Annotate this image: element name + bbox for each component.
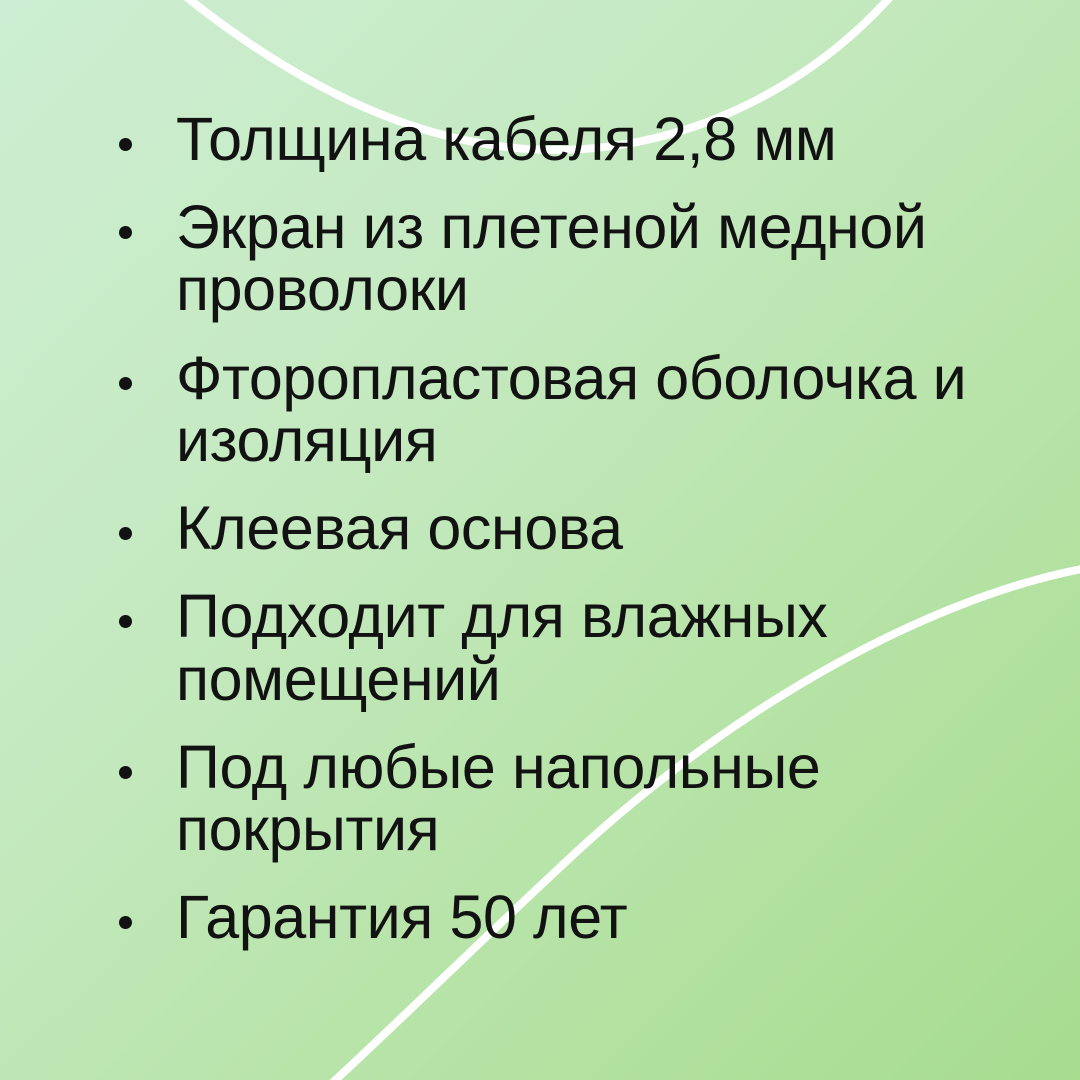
bullet-dot-icon — [119, 766, 132, 779]
feature-text: Под любые напольные покрытия — [176, 736, 988, 860]
list-item: Гарантия 50 лет — [108, 886, 988, 948]
feature-text: Клеевая основа — [176, 497, 988, 559]
feature-text: Экран из плетеной медной проволоки — [176, 196, 988, 320]
bullet-dot-icon — [119, 226, 132, 239]
list-item: Клеевая основа — [108, 497, 988, 559]
bullet-dot-icon — [119, 916, 132, 929]
feature-text: Гарантия 50 лет — [176, 886, 988, 948]
feature-text: Подходит для влажных помещений — [176, 585, 988, 709]
list-item: Экран из плетеной медной проволоки — [108, 196, 988, 320]
feature-text: Фторопластовая оболочка и изоляция — [176, 347, 988, 471]
bullet-dot-icon — [119, 377, 132, 390]
bullet-dot-icon — [119, 138, 132, 151]
bullet-dot-icon — [119, 527, 132, 540]
list-item: Фторопластовая оболочка и изоляция — [108, 347, 988, 471]
feature-list: Толщина кабеля 2,8 мм Экран из плетеной … — [108, 108, 988, 948]
list-item: Толщина кабеля 2,8 мм — [108, 108, 988, 170]
feature-slide: Толщина кабеля 2,8 мм Экран из плетеной … — [0, 0, 1080, 1080]
list-item: Под любые напольные покрытия — [108, 736, 988, 860]
bullet-dot-icon — [119, 615, 132, 628]
list-item: Подходит для влажных помещений — [108, 585, 988, 709]
feature-text: Толщина кабеля 2,8 мм — [176, 108, 988, 170]
